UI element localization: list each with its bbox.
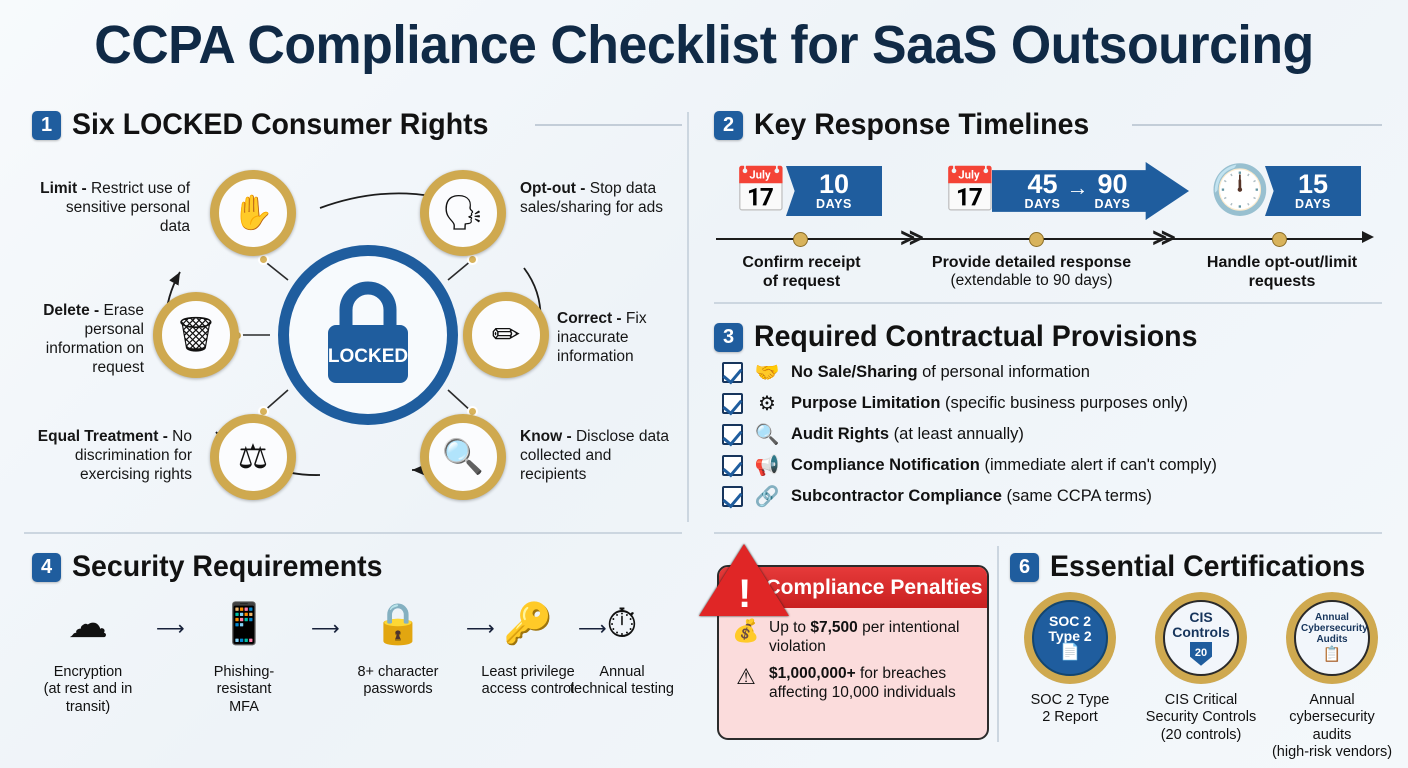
section-title-timelines: Key Response Timelines [754, 108, 1089, 142]
right-node-optout[interactable]: 🗣 [420, 170, 506, 256]
heading-rule [1132, 124, 1382, 126]
arrow-right-icon: → [1067, 175, 1089, 201]
divider-under-timelines [714, 302, 1382, 304]
section-heading-rights: 1 Six LOCKED Consumer Rights [32, 108, 682, 142]
section-heading-certifications: 6 Essential Certifications [1010, 550, 1390, 584]
right-label-correct: Correct - Fix inaccurate information [557, 310, 697, 367]
security-label-2: Phishing-resistant MFA [188, 664, 300, 716]
section-heading-security: 4 Security Requirements [32, 550, 682, 584]
checkbox-icon[interactable] [722, 362, 743, 383]
penalties-body: 💰 Up to $7,500 per intentional violation… [719, 608, 987, 702]
security-item-2[interactable]: 📱 Phishing-resistant MFA [188, 592, 300, 716]
provision-rest-3: (at least annually) [889, 425, 1024, 443]
chain-link-icon: 🔗 [754, 484, 780, 509]
divider-vertical-bottom [997, 546, 999, 742]
right-term-correct: Correct - [557, 310, 622, 327]
right-term-delete: Delete - [43, 302, 99, 319]
cloud-server-lock-icon: ☁ [32, 592, 144, 656]
right-label-limit: Limit - Restrict use of sensitive person… [40, 180, 190, 237]
penalty-amount-2: $1,000,000+ [769, 665, 856, 682]
provision-text-4: Compliance Notification (immediate alert… [791, 456, 1217, 475]
penalty-prefix-1: Up to [769, 619, 810, 636]
certifications-row: SOC 2 Type 2 📄 SOC 2 Type 2 Report CIS C… [1006, 592, 1402, 762]
provision-row-5[interactable]: 🔗 Subcontractor Compliance (same CCPA te… [722, 482, 1152, 510]
right-term-equal: Equal Treatment - [38, 428, 168, 445]
timeline-banner-2: 45 DAYS → 90 DAYS [992, 162, 1189, 220]
section-title-provisions: Required Contractual Provisions [754, 320, 1197, 354]
timeline-unit-2a: DAYS [1025, 198, 1061, 211]
checkbox-icon[interactable] [722, 393, 743, 414]
gear-target-icon: ⚙ [754, 391, 780, 416]
alert-people-icon: ⚠ [731, 665, 761, 689]
security-item-1[interactable]: ☁ Encryption (at rest and in transit) [32, 592, 144, 716]
timeline-value-2a: 45 [1027, 172, 1057, 198]
section-number-6: 6 [1010, 553, 1039, 582]
timeline-caption-1: Confirm receipt of request [714, 253, 889, 291]
right-label-equal: Equal Treatment - No discrimination for … [30, 428, 192, 485]
timeline-caption-sub-3: requests [1192, 272, 1372, 291]
right-label-optout: Opt-out - Stop data sales/sharing for ad… [520, 180, 680, 218]
divider-horizontal-left [24, 532, 682, 534]
penalty-text-2: $1,000,000+ for breaches affecting 10,00… [769, 665, 977, 702]
provision-text-3: Audit Rights (at least annually) [791, 425, 1024, 444]
provision-row-2[interactable]: ⚙ Purpose Limitation (specific business … [722, 389, 1188, 417]
heading-rule [535, 124, 682, 126]
timeline-caption-sub-1: of request [714, 272, 889, 291]
provision-text-1: No Sale/Sharing of personal information [791, 363, 1090, 382]
arrow-right-icon: ⟶ [311, 616, 340, 641]
timeline-caption-bold-1: Confirm receipt [714, 253, 889, 272]
security-item-3[interactable]: 🔒 8+ character passwords [342, 592, 454, 699]
timeline-caption-bold-3: Handle opt-out/limit [1192, 253, 1372, 272]
seal-line2-3: Cybersecurity Audits [1301, 623, 1363, 645]
provision-row-4[interactable]: 📢 Compliance Notification (immediate ale… [722, 451, 1217, 479]
calendar-clock-icon: 📅 [942, 160, 998, 222]
certification-item-2[interactable]: CIS Controls 20 CIS Critical Security Co… [1137, 592, 1265, 744]
section-number-3: 3 [714, 323, 743, 352]
document-icon: 📄 [1060, 645, 1080, 662]
compliance-penalties-card: Compliance Penalties 💰 Up to $7,500 per … [707, 552, 990, 744]
section-title-security: Security Requirements [72, 550, 382, 584]
pencil-eraser-icon: ✏ [492, 318, 521, 352]
penalty-text-1: Up to $7,500 per intentional violation [769, 619, 977, 656]
padlock-icon: LOCKED [308, 270, 428, 400]
timeline-dot [793, 232, 808, 247]
provision-text-5: Subcontractor Compliance (same CCPA term… [791, 487, 1152, 506]
provision-bold-5: Subcontractor Compliance [791, 487, 1002, 505]
penalty-amount-1: $7,500 [810, 619, 857, 636]
clock-icon: 🕛 [1209, 158, 1271, 224]
section-heading-provisions: 3 Required Contractual Provisions [714, 320, 1382, 354]
gear-stopwatch-calendar-icon: ⏱ [566, 592, 678, 656]
padlock-password-icon: 🔒 [342, 592, 454, 656]
magnifier-people-icon: 🔍 [442, 440, 484, 474]
megaphone-icon: 📢 [754, 453, 780, 478]
arrow-right-icon: ⟶ [156, 616, 185, 641]
checkbox-icon[interactable] [722, 455, 743, 476]
timeline-caption-2: Provide detailed response (extendable to… [924, 253, 1139, 291]
timeline-banner-1: 10 DAYS [786, 166, 882, 216]
security-label-3: 8+ character passwords [342, 664, 454, 699]
calendar-clock-icon: 📅 [733, 160, 789, 222]
provision-row-1[interactable]: 🤝 No Sale/Sharing of personal informatio… [722, 358, 1090, 386]
document-magnifier-icon: 🔍 [754, 422, 780, 447]
seal-inner: CIS Controls 20 [1163, 600, 1239, 676]
page-title: CCPA Compliance Checklist for SaaS Outso… [28, 14, 1380, 76]
hub-label: LOCKED [328, 346, 408, 367]
right-label-know: Know - Disclose data collected and recip… [520, 428, 680, 485]
right-label-delete: Delete - Erase personal information on r… [20, 302, 144, 378]
timeline-chevron: ≫ [1152, 226, 1176, 249]
seal-inner: Annual Cybersecurity Audits 📋 [1294, 600, 1370, 676]
clipboard-check-icon: 📋 [1323, 647, 1342, 663]
timeline-value-2b: 90 [1097, 172, 1127, 198]
timeline-unit-3: DAYS [1295, 198, 1331, 211]
certification-item-3[interactable]: Annual Cybersecurity Audits 📋 Annual cyb… [1268, 592, 1396, 762]
penalty-item-2: ⚠ $1,000,000+ for breaches affecting 10,… [731, 665, 977, 702]
provision-rest-5: (same CCPA terms) [1002, 487, 1152, 505]
money-bag-icon: 💰 [731, 619, 761, 643]
provision-rest-4: (immediate alert if can't comply) [980, 456, 1217, 474]
infographic-page: CCPA Compliance Checklist for SaaS Outso… [0, 0, 1408, 768]
certification-caption-2: CIS Critical Security Controls (20 contr… [1137, 692, 1265, 744]
seal-badge: CIS Controls 20 [1155, 592, 1247, 684]
seal-line1-2: CIS [1189, 610, 1212, 625]
provision-bold-2: Purpose Limitation [791, 394, 940, 412]
security-label-5: Annual technical testing [566, 664, 678, 699]
section-title-rights: Six LOCKED Consumer Rights [72, 108, 488, 142]
section-number-1: 1 [32, 111, 61, 140]
provision-bold-4: Compliance Notification [791, 456, 980, 474]
timeline-dot [1272, 232, 1287, 247]
connector-dot [467, 254, 478, 265]
right-term-limit: Limit - [40, 180, 87, 197]
provision-rest-1: of personal information [918, 363, 1090, 381]
certification-item-1[interactable]: SOC 2 Type 2 📄 SOC 2 Type 2 Report [1006, 592, 1134, 727]
timeline-caption-3: Handle opt-out/limit requests [1192, 253, 1372, 291]
right-node-limit[interactable]: ✋ [210, 170, 296, 256]
timeline-caption-sub-2: (extendable to 90 days) [924, 272, 1139, 291]
hand-stop-browser-icon: ✋ [232, 196, 274, 230]
right-node-correct[interactable]: ✏ [463, 292, 549, 378]
right-term-optout: Opt-out - [520, 180, 585, 197]
right-node-know[interactable]: 🔍 [420, 414, 506, 500]
right-node-equal[interactable]: ⚖ [210, 414, 296, 500]
locked-rights-wheel: LOCKED ✋ Limit - Restrict use of sensiti… [20, 150, 680, 520]
scales-balance-icon: ⚖ [238, 440, 268, 474]
timeline-banner-3: 15 DAYS [1265, 166, 1361, 216]
provision-rest-2: (specific business purposes only) [940, 394, 1188, 412]
certification-caption-3: Annual cybersecurity audits (high-risk v… [1268, 692, 1396, 762]
provision-text-2: Purpose Limitation (specific business pu… [791, 394, 1188, 413]
provision-bold-3: Audit Rights [791, 425, 889, 443]
trash-bin-icon: 🗑 [174, 318, 217, 352]
certification-caption-1: SOC 2 Type 2 Report [1006, 692, 1134, 727]
seal-line2-1: Type 2 [1048, 629, 1091, 644]
seal-line1-1: SOC 2 [1049, 614, 1091, 629]
seal-badge: Annual Cybersecurity Audits 📋 [1286, 592, 1378, 684]
response-timeline: ≫ ≫ 📅 10 DAYS Confirm receipt of request… [714, 150, 1380, 295]
timeline-unit-2b: DAYS [1095, 198, 1131, 211]
warning-exclamation: ! [738, 574, 751, 614]
seal-line2-2: Controls [1172, 625, 1230, 640]
section-number-4: 4 [32, 553, 61, 582]
security-requirements-row: ☁ Encryption (at rest and in transit) ⟶ … [20, 592, 690, 762]
person-megaphone-block-icon: 🗣 [441, 196, 484, 230]
checkbox-icon[interactable] [722, 424, 743, 445]
checkbox-icon[interactable] [722, 486, 743, 507]
security-label-1: Encryption (at rest and in transit) [32, 664, 144, 716]
section-heading-timelines: 2 Key Response Timelines [714, 108, 1382, 142]
penalty-item-1: 💰 Up to $7,500 per intentional violation [731, 619, 977, 656]
section-number-2: 2 [714, 111, 743, 140]
shield-icon: 20 [1190, 642, 1212, 666]
provision-bold-1: No Sale/Sharing [791, 363, 918, 381]
timeline-arrowhead [1362, 231, 1374, 243]
security-item-5[interactable]: ⏱ Annual technical testing [566, 592, 678, 699]
timeline-unit-1: DAYS [816, 198, 852, 211]
right-node-delete[interactable]: 🗑 [153, 292, 239, 378]
provision-row-3[interactable]: 🔍 Audit Rights (at least annually) [722, 420, 1024, 448]
timeline-value-1: 10 [819, 172, 849, 198]
handshake-icon: 🤝 [754, 360, 780, 385]
section-title-certifications: Essential Certifications [1050, 550, 1365, 584]
right-term-know: Know - [520, 428, 572, 445]
timeline-chevron: ≫ [900, 226, 924, 249]
divider-horizontal-right [714, 532, 1382, 534]
connector-dot [258, 254, 269, 265]
provisions-checklist: 🤝 No Sale/Sharing of personal informatio… [714, 358, 1380, 518]
phone-key-shield-icon: 📱 [188, 592, 300, 656]
seal-line1-3: Annual [1315, 613, 1349, 624]
seal-badge: SOC 2 Type 2 📄 [1024, 592, 1116, 684]
timeline-value-3: 15 [1298, 172, 1328, 198]
seal-inner: SOC 2 Type 2 📄 [1032, 600, 1108, 676]
timeline-caption-bold-2: Provide detailed response [924, 253, 1139, 272]
timeline-dot [1029, 232, 1044, 247]
